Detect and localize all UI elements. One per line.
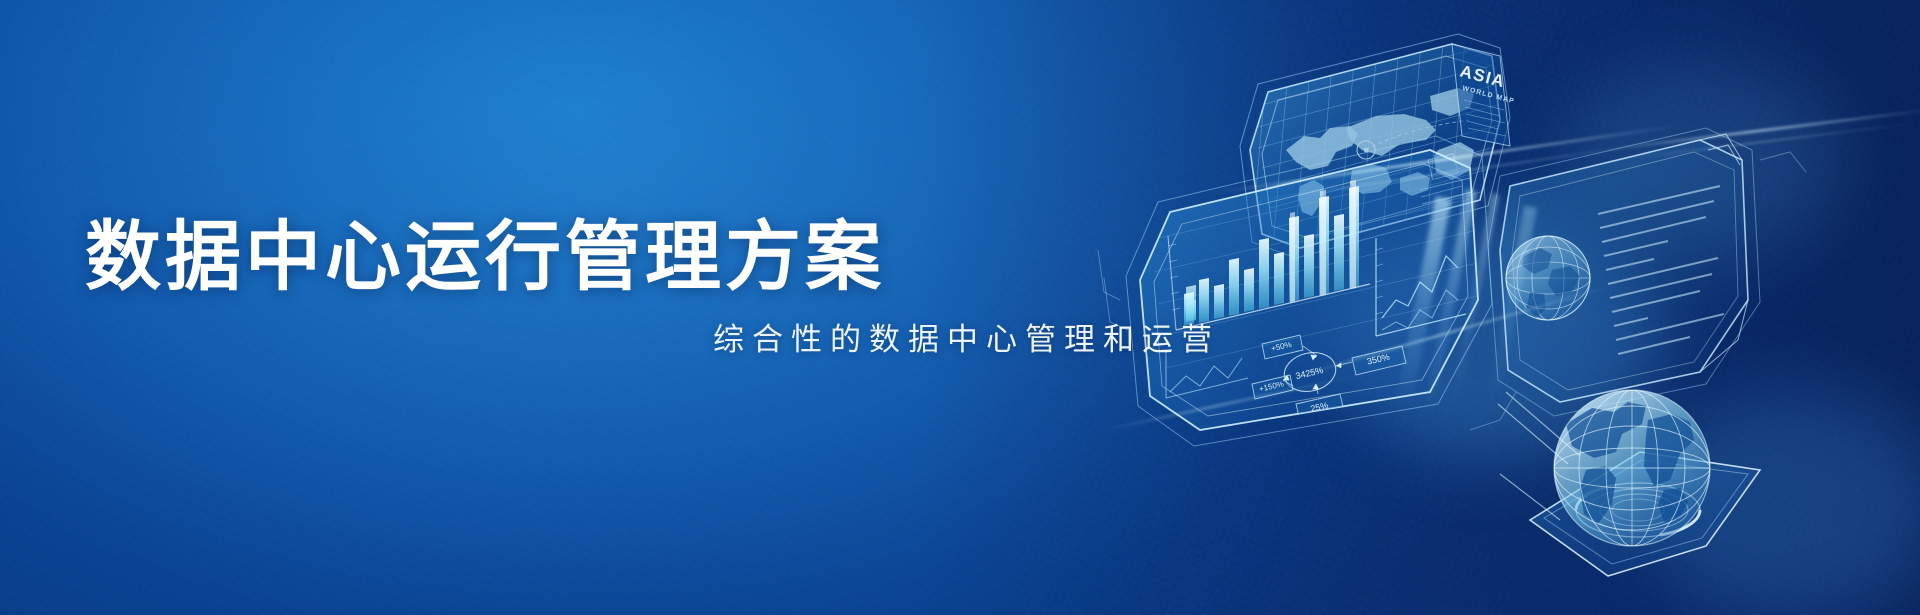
page-title: 数据中心运行管理方案 bbox=[85, 215, 1225, 300]
hero-banner: ASIA WORLD MAP bbox=[0, 0, 1920, 615]
hero-text-block: 数据中心运行管理方案 综合性的数据中心管理和运营 bbox=[85, 215, 1225, 359]
page-subtitle: 综合性的数据中心管理和运营 bbox=[85, 314, 1225, 359]
